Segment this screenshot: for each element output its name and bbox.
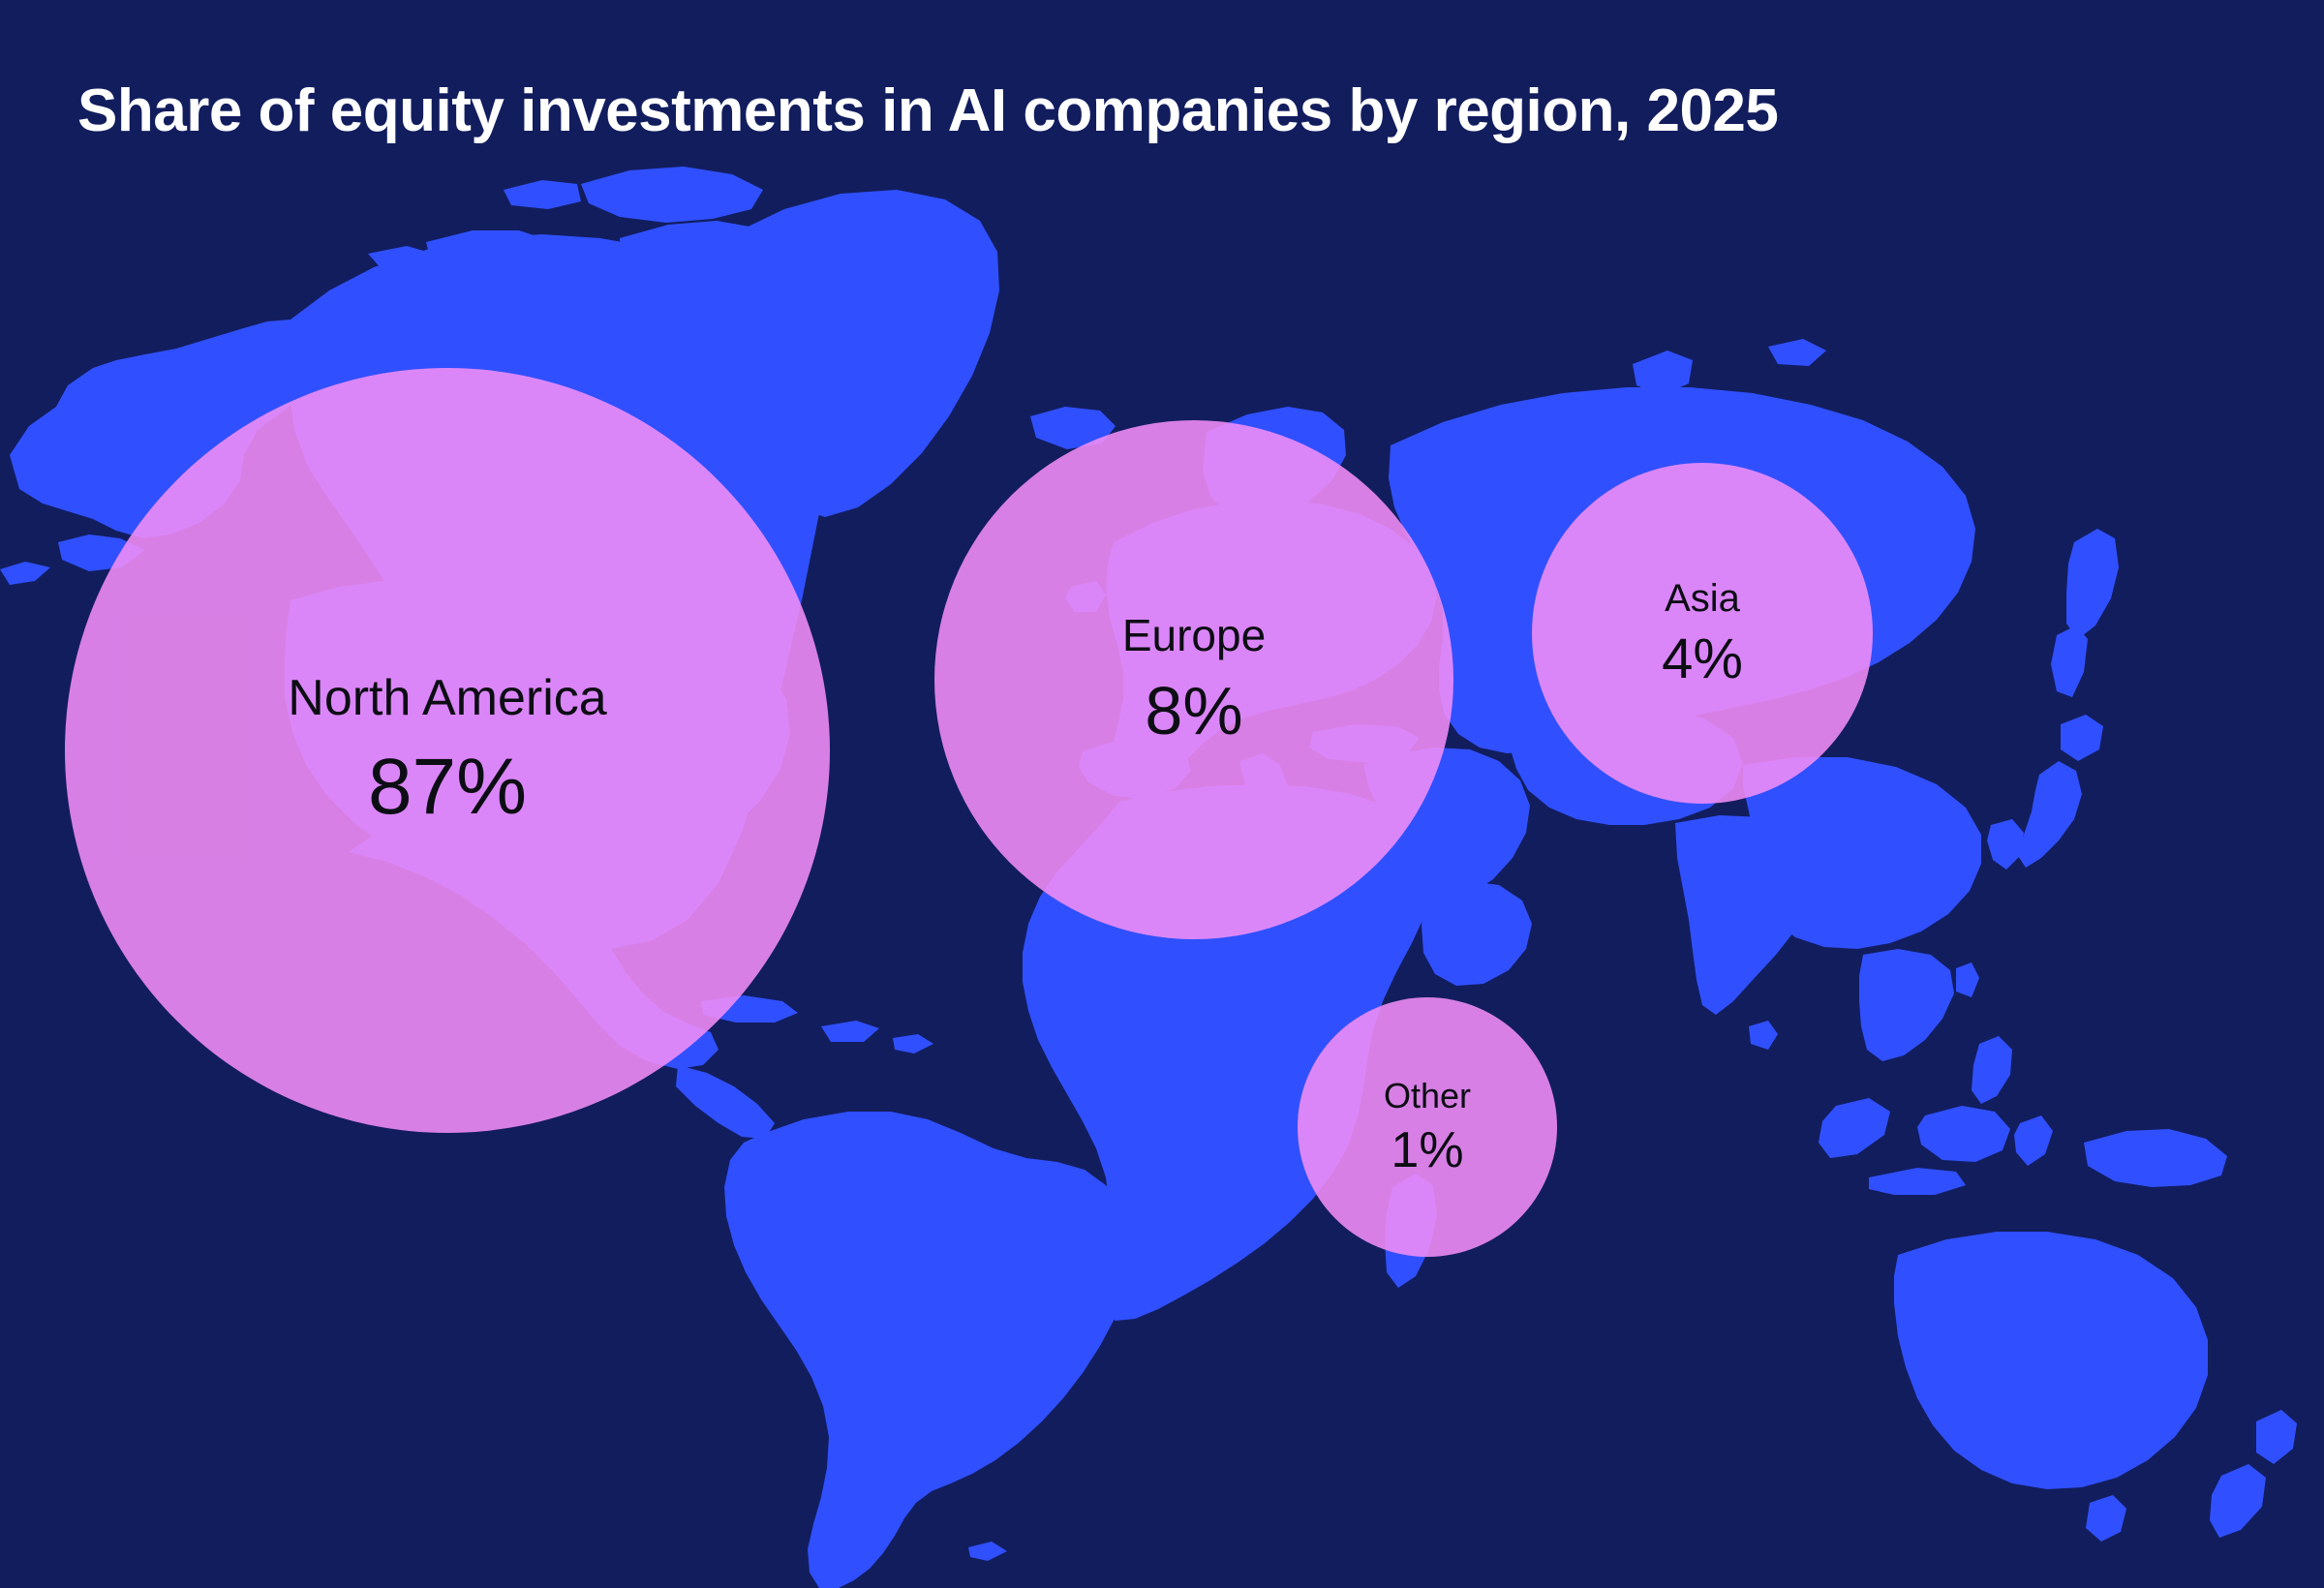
bubble-region-label: Other <box>1384 1078 1471 1115</box>
bubble-region-label: Europe <box>1122 612 1266 658</box>
title-bar: Share of equity investments in AI compan… <box>77 76 2247 147</box>
infographic-canvas: Share of equity investments in AI compan… <box>0 0 2324 1588</box>
bubble-value-label: 4% <box>1662 630 1743 689</box>
bubble-asia[interactable]: Asia 4% <box>1532 463 1873 804</box>
bubble-layer: North America 87% Europe 8% Asia 4% Othe… <box>0 0 2324 1588</box>
bubble-region-label: Asia <box>1665 578 1740 619</box>
bubble-north-america[interactable]: North America 87% <box>65 368 830 1133</box>
bubble-value-label: 8% <box>1145 676 1242 748</box>
bubble-other[interactable]: Other 1% <box>1298 997 1557 1257</box>
bubble-value-label: 1% <box>1391 1124 1463 1177</box>
bubble-europe[interactable]: Europe 8% <box>934 420 1453 939</box>
bubble-region-label: North America <box>288 672 606 725</box>
bubble-value-label: 87% <box>368 746 527 829</box>
page-title: Share of equity investments in AI compan… <box>77 76 2247 147</box>
